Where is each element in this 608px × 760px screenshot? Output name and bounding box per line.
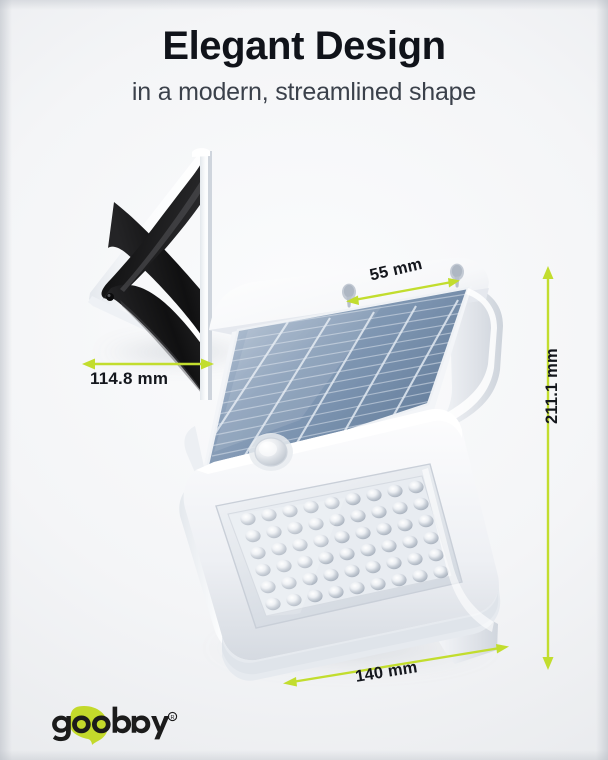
side-view-pivot-dot-gloss <box>108 294 111 297</box>
product-main-view <box>179 258 503 681</box>
page-subtitle: in a modern, streamlined shape <box>0 75 608 109</box>
motion-sensor-fresnel <box>259 442 277 457</box>
logo-wordmark <box>52 707 169 742</box>
page-title: Elegant Design <box>0 22 608 70</box>
product-infographic-page: Elegant Design in a modern, streamlined … <box>0 0 608 760</box>
svg-text:R: R <box>170 715 174 721</box>
dimension-label-depth: 114.8 mm <box>90 369 168 389</box>
dimension-arrow-height <box>543 266 554 670</box>
motion-sensor <box>249 433 293 471</box>
logo-registered-mark: R <box>168 712 176 721</box>
side-view-backplate-top <box>192 148 210 157</box>
brand-logo: R <box>48 704 208 746</box>
header: Elegant Design in a modern, streamlined … <box>0 22 608 109</box>
dimension-label-height: 211.1 mm <box>543 348 562 424</box>
side-view-pivot-dot <box>106 293 114 301</box>
